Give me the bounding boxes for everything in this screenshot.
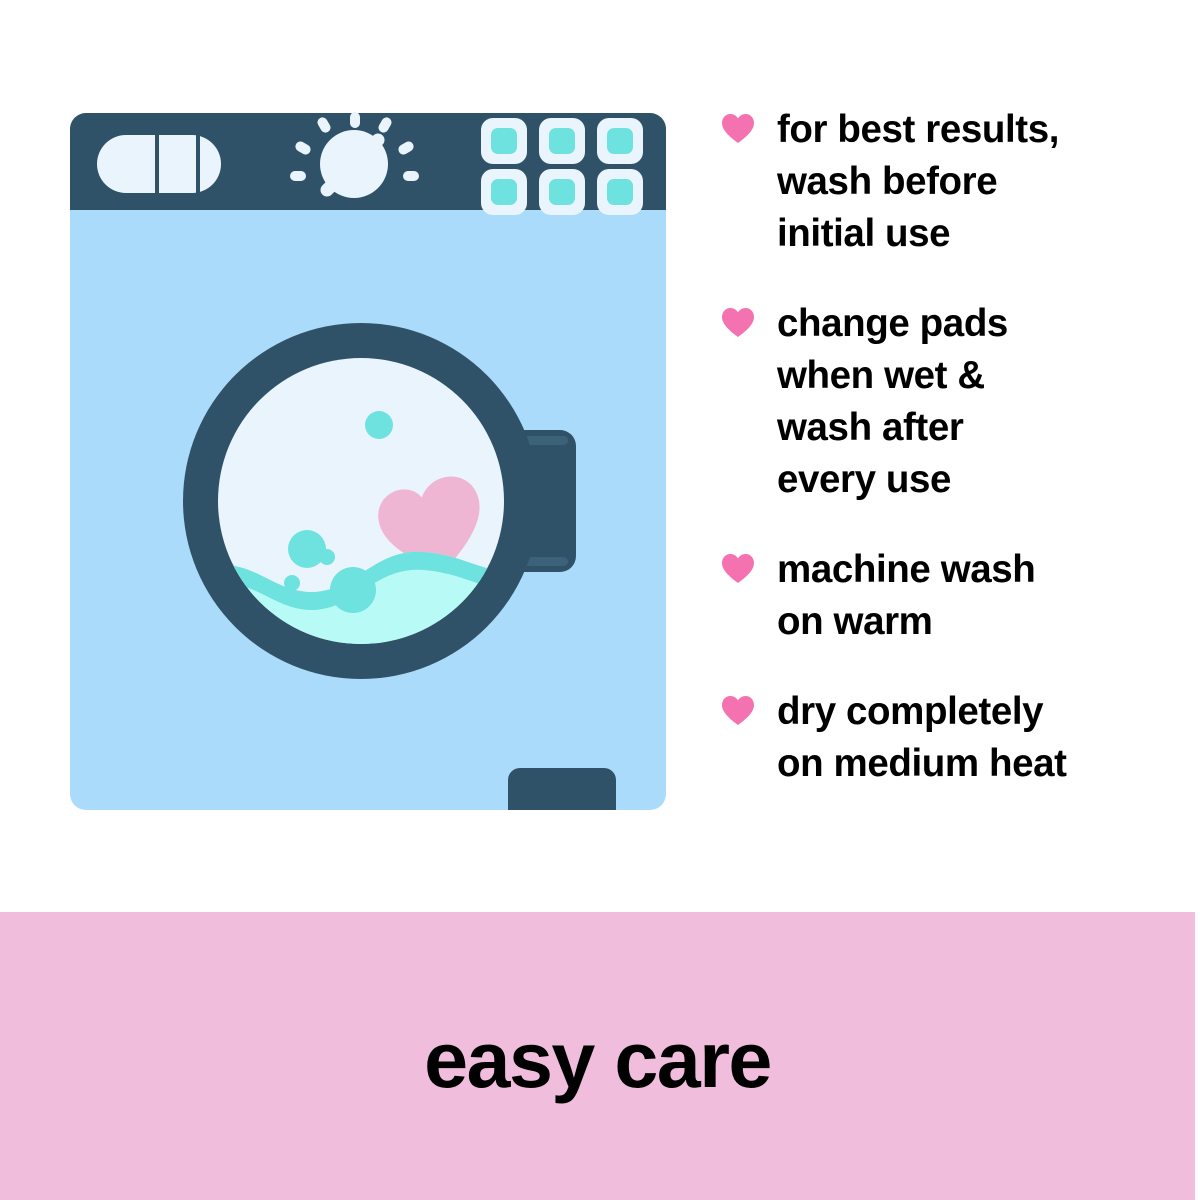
- washing-machine-graphic: [56, 100, 680, 824]
- bubble: [365, 411, 393, 439]
- bubble: [330, 567, 376, 613]
- panel-button[interactable]: [597, 118, 643, 164]
- bottom-banner: easy care: [0, 912, 1195, 1200]
- care-item: dry completely on medium heat: [722, 686, 1142, 790]
- care-item-text: for best results, wash before initial us…: [777, 104, 1059, 260]
- banner-title: easy care: [424, 1020, 771, 1099]
- bubble: [319, 549, 335, 565]
- heart-icon: [722, 554, 754, 584]
- panel-button[interactable]: [539, 118, 585, 164]
- care-item: for best results, wash before initial us…: [722, 104, 1142, 260]
- care-item: machine wash on warm: [722, 544, 1142, 648]
- panel-button[interactable]: [597, 169, 643, 215]
- heart-icon: [722, 696, 754, 726]
- care-item-text: dry completely on medium heat: [777, 686, 1067, 790]
- bubble: [284, 575, 300, 591]
- segmented-display: [97, 135, 221, 193]
- heart-icon: [722, 114, 754, 144]
- care-item-text: machine wash on warm: [777, 544, 1035, 648]
- panel-button[interactable]: [481, 169, 527, 215]
- bubble: [288, 530, 326, 568]
- panel-button[interactable]: [481, 118, 527, 164]
- care-item-text: change pads when wet & wash after every …: [777, 298, 1008, 506]
- care-item: change pads when wet & wash after every …: [722, 298, 1142, 506]
- infographic-page: for best results, wash before initial us…: [0, 0, 1200, 1200]
- care-instructions-list: for best results, wash before initial us…: [722, 104, 1142, 790]
- bottom-drawer-base: [508, 794, 616, 810]
- panel-button[interactable]: [539, 169, 585, 215]
- heart-icon: [722, 308, 754, 338]
- washing-machine-illustration: [56, 100, 680, 824]
